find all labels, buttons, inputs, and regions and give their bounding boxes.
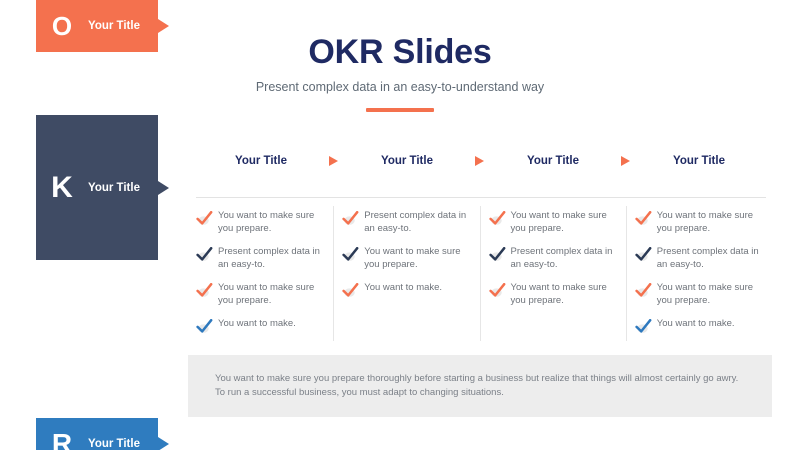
list-item-text: You want to make.: [364, 282, 442, 295]
check-icon: [342, 247, 359, 262]
okr-block-r[interactable]: RYour Title: [36, 418, 158, 450]
list-item[interactable]: You want to make sure you prepare.: [489, 210, 618, 235]
list-item[interactable]: Present complex data in an easy-to.: [342, 210, 471, 235]
list-item-text: You want to make sure you prepare.: [364, 246, 471, 271]
summary-note-text: You want to make sure you prepare thorou…: [215, 372, 745, 400]
slide-canvas: OKR Slides Present complex data in an ea…: [0, 0, 800, 450]
column-headers: Your TitleYour TitleYour TitleYour Title: [188, 155, 772, 167]
check-icon: [489, 283, 506, 298]
title-underline-accent: [366, 108, 434, 112]
column-header-2: Your Title: [334, 155, 480, 167]
list-item-text: You want to make.: [657, 318, 735, 331]
check-icon: [635, 319, 652, 334]
check-icon: [635, 247, 652, 262]
list-item-text: You want to make sure you prepare.: [511, 282, 618, 307]
checklist-columns: You want to make sure you prepare.Presen…: [188, 206, 772, 341]
list-item-text: You want to make sure you prepare.: [511, 210, 618, 235]
triangle-right-icon: [158, 437, 169, 450]
okr-block-o[interactable]: OYour Title: [36, 0, 158, 52]
list-item[interactable]: You want to make.: [342, 282, 471, 298]
triangle-right-icon: [158, 181, 169, 195]
okr-block-label: Your Title: [88, 182, 140, 194]
okr-block-letter: O: [36, 13, 88, 39]
list-item[interactable]: You want to make sure you prepare.: [196, 210, 325, 235]
list-item-text: Present complex data in an easy-to.: [364, 210, 471, 235]
okr-side-blocks: OYour TitleKYour TitleRYour Title: [36, 0, 158, 249]
checklist-column-3: You want to make sure you prepare.Presen…: [480, 206, 626, 341]
list-item[interactable]: You want to make.: [635, 318, 764, 334]
column-header-4: Your Title: [626, 155, 772, 167]
column-header-1: Your Title: [188, 155, 334, 167]
list-item[interactable]: You want to make sure you prepare.: [196, 282, 325, 307]
check-icon: [342, 211, 359, 226]
header-divider-line: [196, 197, 766, 198]
triangle-right-icon: [158, 19, 169, 33]
okr-block-letter: K: [36, 173, 88, 203]
check-icon: [489, 211, 506, 226]
list-item-text: Present complex data in an easy-to.: [218, 246, 325, 271]
list-item[interactable]: You want to make sure you prepare.: [342, 246, 471, 271]
list-item[interactable]: Present complex data in an easy-to.: [489, 246, 618, 271]
check-icon: [196, 211, 213, 226]
okr-block-label: Your Title: [88, 20, 140, 32]
okr-block-k[interactable]: KYour Title: [36, 115, 158, 260]
list-item-text: Present complex data in an easy-to.: [657, 246, 764, 271]
list-item[interactable]: You want to make.: [196, 318, 325, 334]
summary-note-box: You want to make sure you prepare thorou…: [188, 355, 772, 417]
checklist-column-4: You want to make sure you prepare.Presen…: [626, 206, 772, 341]
checklist-column-1: You want to make sure you prepare.Presen…: [188, 206, 333, 341]
list-item-text: You want to make sure you prepare.: [657, 282, 764, 307]
list-item-text: You want to make sure you prepare.: [218, 210, 325, 235]
list-item[interactable]: You want to make sure you prepare.: [635, 210, 764, 235]
list-item[interactable]: Present complex data in an easy-to.: [196, 246, 325, 271]
check-icon: [196, 283, 213, 298]
okr-block-letter: R: [36, 430, 88, 450]
check-icon: [196, 319, 213, 334]
checklist-column-2: Present complex data in an easy-to.You w…: [333, 206, 479, 341]
list-item-text: Present complex data in an easy-to.: [511, 246, 618, 271]
list-item-text: You want to make sure you prepare.: [657, 210, 764, 235]
check-icon: [196, 247, 213, 262]
column-header-3: Your Title: [480, 155, 626, 167]
list-item[interactable]: You want to make sure you prepare.: [635, 282, 764, 307]
okr-block-label: Your Title: [88, 438, 140, 450]
list-item-text: You want to make.: [218, 318, 296, 331]
check-icon: [635, 283, 652, 298]
list-item-text: You want to make sure you prepare.: [218, 282, 325, 307]
check-icon: [489, 247, 506, 262]
list-item[interactable]: Present complex data in an easy-to.: [635, 246, 764, 271]
check-icon: [342, 283, 359, 298]
check-icon: [635, 211, 652, 226]
list-item[interactable]: You want to make sure you prepare.: [489, 282, 618, 307]
